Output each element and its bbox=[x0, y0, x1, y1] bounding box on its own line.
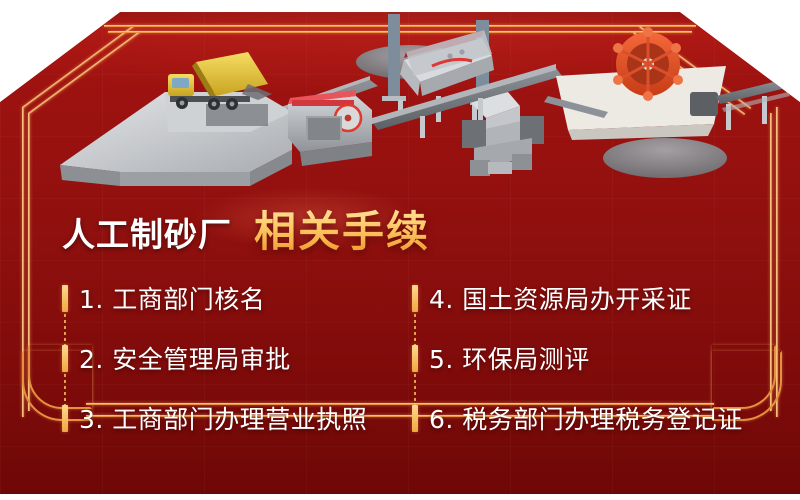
bullet-bar-icon bbox=[62, 405, 68, 432]
headline: 人工制砂厂 相关手续 bbox=[62, 198, 430, 259]
bullet-bar-icon bbox=[62, 345, 68, 372]
poster-root: 人工制砂厂 相关手续 1. 工商部门核名 2. 安全管理局审批 3. 工商部门办… bbox=[0, 0, 800, 500]
list-item[interactable]: 2. 安全管理局审批 bbox=[62, 328, 422, 388]
production-line-illustration bbox=[0, 0, 800, 200]
bullet-bar-icon bbox=[412, 345, 418, 372]
jaw-crusher bbox=[288, 90, 372, 166]
list-item[interactable]: 5. 环保局测评 bbox=[412, 328, 772, 388]
procedure-list: 1. 工商部门核名 2. 安全管理局审批 3. 工商部门办理营业执照 4. 国土… bbox=[0, 268, 800, 448]
list-item-label: 6. 税务部门办理税务登记证 bbox=[429, 400, 743, 436]
list-item[interactable]: 1. 工商部门核名 bbox=[62, 268, 422, 328]
sand-pile-right bbox=[603, 138, 727, 178]
list-item-label: 4. 国土资源局办开采证 bbox=[429, 280, 692, 316]
sand-washer bbox=[556, 27, 726, 140]
list-item-label: 5. 环保局测评 bbox=[429, 340, 590, 376]
list-item[interactable]: 4. 国土资源局办开采证 bbox=[412, 268, 772, 328]
list-item-label: 1. 工商部门核名 bbox=[79, 280, 265, 316]
bullet-bar-icon bbox=[412, 405, 418, 432]
production-line-svg bbox=[0, 0, 800, 200]
bullet-bar-icon bbox=[412, 285, 418, 312]
feed-ramp bbox=[60, 92, 292, 186]
headline-highlight: 相关手续 bbox=[254, 198, 430, 259]
headline-primary: 人工制砂厂 bbox=[62, 208, 232, 256]
procedure-column-right: 4. 国土资源局办开采证 5. 环保局测评 6. 税务部门办理税务登记证 bbox=[412, 268, 772, 448]
list-item[interactable]: 3. 工商部门办理营业执照 bbox=[62, 388, 422, 448]
list-item-label: 2. 安全管理局审批 bbox=[79, 340, 291, 376]
bullet-bar-icon bbox=[62, 285, 68, 312]
vsi-sand-maker bbox=[462, 92, 544, 176]
list-item[interactable]: 6. 税务部门办理税务登记证 bbox=[412, 388, 772, 448]
belt-conveyor-discharge bbox=[716, 78, 794, 130]
list-item-label: 3. 工商部门办理营业执照 bbox=[79, 400, 367, 436]
procedure-column-left: 1. 工商部门核名 2. 安全管理局审批 3. 工商部门办理营业执照 bbox=[62, 268, 422, 448]
